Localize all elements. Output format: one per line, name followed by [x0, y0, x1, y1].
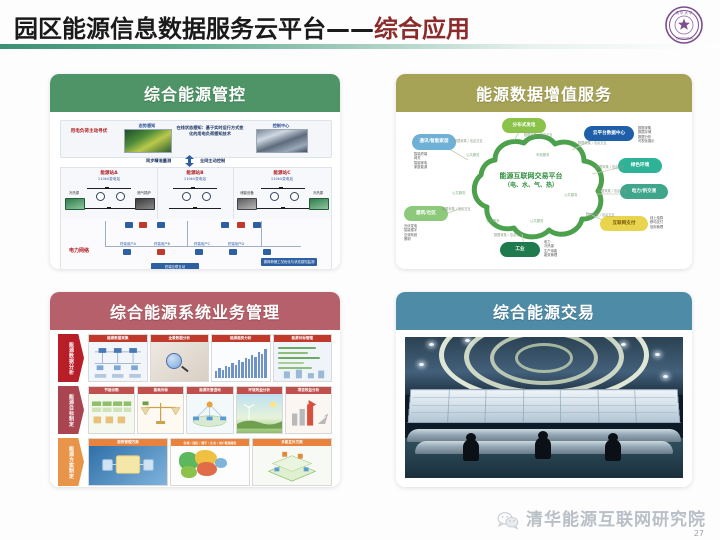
- wechat-icon: [496, 511, 520, 530]
- p1-station-a-right-device-label: 燃气锅炉: [131, 190, 157, 195]
- p3-card-art-eco: [237, 394, 282, 433]
- p1-breaker: [107, 207, 111, 209]
- p3-card-title: 环境效益分析: [237, 387, 282, 394]
- p3-card-trend-analysis[interactable]: 能源趋势分析: [211, 334, 271, 382]
- p3-card-art-map: [171, 446, 249, 485]
- p1-station-b-title: 能源站B: [157, 170, 233, 176]
- p1-center-note: 在线状态感知：基于实时运行方式变化的用电负荷感知技术: [176, 125, 244, 137]
- slide-title-bar: 园区能源信息数据服务云平台——综合应用 清 华 大 学 TSINGHUA: [0, 0, 720, 52]
- p1-terminal-label: 终端用户B: [147, 241, 177, 246]
- p3-card-data-collection[interactable]: 能源数据采集: [88, 334, 148, 382]
- p1-station-a-sub: 110kV变电站: [61, 177, 157, 182]
- p1-control-center-photo: [256, 129, 308, 153]
- p1-station-c-sub: 110kV变电站: [233, 177, 331, 182]
- panel-3-header: 综合能源系统业务管理: [50, 292, 340, 330]
- p2-leaf-communication: 通讯/智能家居: [412, 134, 456, 150]
- control-room-photo: [405, 337, 683, 478]
- p2-leaf-cloud-data-center: 云平台数据中心: [584, 126, 634, 141]
- p1-node: [123, 249, 131, 255]
- panel-integrated-energy-trading[interactable]: 综合能源交易: [396, 292, 692, 487]
- p3-card-title: 节能诊断: [89, 387, 134, 394]
- p1-device-cooling: [309, 198, 329, 210]
- operator-person: [463, 439, 479, 461]
- p3-card-title: 区域 / 园区 / 楼宇 / 企业 / 用户能源服务: [171, 439, 249, 446]
- p3-row-energy-plan-setting: 能源方案制定 能效管理方案: [58, 438, 332, 486]
- p3-row2-cards: 节能诊断 能耗对标: [88, 386, 332, 434]
- p1-station-c-title: 能源站C: [233, 170, 331, 176]
- page-title-main: 园区能源信息数据服务云平台——: [14, 15, 374, 43]
- p3-card-title: 项目效益分析: [286, 387, 331, 394]
- p3-card-art-network: [187, 394, 232, 433]
- p3-card-art-list: [274, 342, 332, 381]
- p1-node: [263, 249, 271, 255]
- panel-integrated-energy-control[interactable]: 综合能源管控 用电负荷主动寻优 态势感知 在线状态感知：基于实时运行方式变化的用…: [50, 74, 340, 269]
- ceiling-lamp: [663, 375, 668, 378]
- p2-spoke-label: 数据采集 / 信息交互: [494, 232, 523, 237]
- p3-card-title: 多能互补方案: [253, 439, 331, 446]
- p1-terminal-label: 终端用户C: [187, 241, 217, 246]
- p3-row1-tab: 能源数据分析: [58, 334, 84, 382]
- panel-3-header-label: 综合能源系统业务管理: [110, 299, 280, 323]
- p1-breaker: [105, 187, 109, 189]
- tsinghua-seal-icon: 清 华 大 学 TSINGHUA: [664, 5, 704, 45]
- p3-card-title: 能源数据采集: [89, 335, 147, 342]
- p2-spoke-label: 数据采集 / 信息交互: [442, 206, 471, 211]
- p1-transformer: [182, 192, 191, 201]
- p2-cloud-diagram: 能源互联网交易平台 （电、水、气、热） 公共服务 市政服务 公共服务 公共服务 …: [396, 112, 692, 269]
- p2-spoke-label: 数据采集 / 信息交互: [524, 132, 553, 137]
- p1-breaker: [281, 207, 285, 209]
- p3-card-multi-energy-plan[interactable]: 多能互补方案: [252, 438, 332, 486]
- p3-card-art-arrowbars: [286, 394, 331, 433]
- p1-device-storage: [237, 198, 257, 210]
- p1-transformer: [290, 192, 299, 201]
- p1-node: [237, 222, 245, 228]
- p3-card-title: 全景数据分析: [151, 335, 209, 342]
- p1-feeder: [105, 221, 106, 247]
- p3-row1-cards: 能源数据采集: [88, 334, 332, 382]
- p1-device-boiler: [135, 198, 155, 210]
- panel-energy-data-value-service[interactable]: 能源数据增值服务 能源互联网交易平台 （电、水、气、热） 公共服务 市政服务 公…: [396, 74, 692, 269]
- p3-card-art-network: [89, 342, 147, 381]
- p1-network-label: 电力网络: [69, 247, 89, 254]
- p1-transformer: [202, 192, 211, 201]
- p3-card-art-grid3d: [253, 446, 331, 485]
- p2-leaf-cloud-data-center-note: 数据采集 数据存储 数据分析 可视化展示: [638, 126, 672, 144]
- p1-node: [229, 249, 237, 255]
- p3-card-art-device: [89, 446, 167, 485]
- p1-device-cooling: [65, 198, 85, 210]
- p3-row-energy-target-setting: 能源目标制定 节能诊断 能耗对标: [58, 386, 332, 434]
- p3-card-environmental-benefit[interactable]: 环境效益分析: [236, 386, 283, 434]
- p3-row2-tab-label: 能源目标制定: [67, 394, 75, 427]
- p2-leaf-internet-payment-note: 线上结算 移动支付 信用管理: [650, 216, 682, 229]
- p2-spoke-label: 数据采集 / 信息交互: [578, 140, 607, 145]
- p2-leaf-communication-note: 智能终端 网关 智能家电 家庭能源: [414, 152, 448, 170]
- p1-load-optimization-label: 用电负荷主动寻优: [66, 128, 112, 135]
- p1-busbar: [261, 188, 305, 189]
- panel-4-header-label: 综合能源交易: [493, 299, 595, 323]
- p2-spoke-label: 数据采集 / 信息交互: [598, 188, 627, 193]
- p1-network-area: 电力网络 终端用户A 终端用户B 终端用户C 终端用户D: [60, 219, 332, 269]
- p1-busbar: [87, 188, 131, 189]
- panel-4-body: [396, 330, 692, 487]
- panel-4-header: 综合能源交易: [396, 292, 692, 330]
- ceiling-lamp: [429, 343, 434, 346]
- p3-card-panoramic-analysis[interactable]: 全景数据分析: [150, 334, 210, 382]
- panel-1-header: 综合能源管控: [50, 74, 340, 112]
- p3-row3-cards: 能效管理方案 区域 / 园区 / 楼宇 / 企业 / 用户能源服务: [88, 438, 332, 486]
- video-wall: [408, 389, 681, 423]
- p1-terminal-label: 终端用户D: [221, 241, 251, 246]
- footer: 清华能源互联网研究院: [496, 511, 706, 530]
- svg-text:TSINGHUA: TSINGHUA: [674, 37, 693, 41]
- p2-leaf-building-community-note: 光伏发电 智能楼宇 空调系统 照明: [404, 224, 440, 242]
- p2-leaf-distributed-generation: 分布式发电: [502, 118, 546, 133]
- p1-station-b-sub: 110kV变电站: [157, 177, 233, 182]
- p1-breaker: [191, 187, 195, 189]
- panel-1-body: 用电负荷主动寻优 态势感知 在线状态感知：基于实时运行方式变化的用电负荷感知技术…: [50, 112, 340, 269]
- p1-transformer: [96, 192, 105, 201]
- p1-station-c-right-device-label: 冷热源: [305, 190, 331, 195]
- panel-3-body: 能源数据分析 能源数据采集: [50, 330, 340, 487]
- p3-card-energy-hosting-consulting[interactable]: 能源托管咨询: [186, 386, 233, 434]
- p1-station-b: 能源站B 110kV变电站: [157, 168, 234, 220]
- p1-measurement-label: 同步精准量测: [146, 158, 171, 164]
- p3-card-art-balance: [138, 394, 183, 433]
- page-title: 园区能源信息数据服务云平台——综合应用: [14, 9, 470, 44]
- panel-2-header: 能源数据增值服务: [396, 74, 692, 112]
- p1-feeder: [261, 221, 262, 247]
- p1-breaker: [279, 187, 283, 189]
- p1-node: [157, 249, 165, 255]
- p1-situational-awareness-photo: [124, 129, 172, 153]
- p1-transformer: [116, 192, 125, 201]
- operator-person: [535, 437, 551, 459]
- p1-callout-monitoring: 源网荷储工况优化与状态感知监测: [261, 258, 317, 266]
- panel-business-management[interactable]: 综合能源系统业务管理 能源数据分析 能源数据采集: [50, 292, 340, 487]
- p1-busbar: [173, 188, 217, 189]
- operator-person: [605, 439, 621, 461]
- p3-card-project-benefit[interactable]: 项目效益分析: [285, 386, 332, 434]
- p3-card-art-list: [89, 394, 134, 433]
- ceiling-lamp: [465, 339, 470, 342]
- p2-leaf-industry-note: 电力 冷热源 生产用能 能效管理: [544, 240, 574, 258]
- p3-row3-tab-label: 能源方案制定: [67, 446, 75, 479]
- p2-leaf-industry: 工业: [500, 242, 540, 257]
- p3-card-benchmarking[interactable]: 能耗对标: [137, 386, 184, 434]
- p1-station-group: 能源站A 110kV变电站 冷热源 燃气锅炉 能源站B 110kV变电站: [60, 167, 332, 221]
- p1-feeder: [105, 246, 301, 247]
- ceiling-lamp: [419, 363, 424, 366]
- p1-node: [253, 222, 261, 228]
- p3-row1-tab-label: 能源数据分析: [67, 342, 75, 375]
- p1-station-c: 能源站C 110kV变电站 储能设备 冷热源: [233, 168, 331, 220]
- p2-leaf-internet-payment: 互联网支付: [600, 216, 648, 231]
- panel-1-header-label: 综合能源管控: [144, 81, 246, 105]
- footer-organization: 清华能源互联网研究院: [526, 511, 706, 530]
- page-number: 27: [694, 529, 704, 538]
- ceiling-lamp: [655, 353, 660, 356]
- p1-station-a-title: 能源站A: [61, 170, 157, 176]
- p1-control-label: 全网主动控制: [200, 158, 225, 164]
- panel-2-header-label: 能源数据增值服务: [476, 81, 612, 105]
- p3-card-energy-saving-diagnosis[interactable]: 节能诊断: [88, 386, 135, 434]
- ceiling-ring-core: [515, 343, 573, 373]
- p3-card-title: 能耗对标: [138, 387, 183, 394]
- svg-text:清 华 大 学: 清 华 大 学: [676, 10, 693, 15]
- p2-spoke-label: 数据采集 / 信息交互: [454, 138, 483, 143]
- p1-node: [221, 222, 229, 228]
- p1-callout-interaction: 终端互联互动: [151, 263, 199, 269]
- p3-card-title: 能源趋势分析: [212, 335, 270, 342]
- ceiling-lamp: [621, 343, 626, 346]
- p3-row3-tab: 能源方案制定: [58, 438, 84, 486]
- p3-row-energy-data-analysis: 能源数据分析 能源数据采集: [58, 334, 332, 382]
- p1-node: [195, 249, 203, 255]
- video-wall-grid: [409, 390, 680, 422]
- slide-root: 园区能源信息数据服务云平台——综合应用 清 华 大 学 TSINGHUA 综合能…: [0, 0, 720, 540]
- p1-transformer: [270, 192, 279, 201]
- p3-card-regional-service[interactable]: 区域 / 园区 / 楼宇 / 企业 / 用户能源服务: [170, 438, 250, 486]
- p3-card-title: 能效管理方案: [89, 439, 167, 446]
- p1-breaker: [193, 207, 197, 209]
- p3-card-art-bars: [212, 342, 270, 381]
- p3-card-title: 能源对标管理: [274, 335, 332, 342]
- p3-card-efficiency-plan[interactable]: 能效管理方案: [88, 438, 168, 486]
- p1-station-a: 能源站A 110kV变电站 冷热源 燃气锅炉: [61, 168, 158, 220]
- p1-bidirectional-arrow-icon: [184, 155, 195, 167]
- p2-spoke-label: 数据采集 / 信息交互: [586, 212, 615, 217]
- p1-station-a-left-device-label: 冷热源: [63, 190, 85, 195]
- p1-node: [157, 222, 165, 228]
- p3-card-title: 能源托管咨询: [187, 387, 232, 394]
- p1-station-c-left-device-label: 储能设备: [235, 190, 259, 195]
- p1-node: [125, 222, 133, 228]
- p3-row2-tab: 能源目标制定: [58, 386, 84, 434]
- title-divider: [0, 44, 720, 49]
- p2-leaf-power-trading: 电力/供交易: [620, 184, 668, 199]
- p2-spoke-label: 数据采集 / 信息交互: [596, 164, 625, 169]
- p1-node: [139, 222, 147, 228]
- p3-card-art-magnifier: [151, 342, 209, 381]
- p1-terminal-label: 终端用户A: [113, 241, 143, 246]
- p3-card-benchmark-management[interactable]: 能源对标管理: [273, 334, 333, 382]
- page-title-accent: 综合应用: [374, 15, 470, 43]
- panel-2-body: 能源互联网交易平台 （电、水、气、热） 公共服务 市政服务 公共服务 公共服务 …: [396, 112, 692, 269]
